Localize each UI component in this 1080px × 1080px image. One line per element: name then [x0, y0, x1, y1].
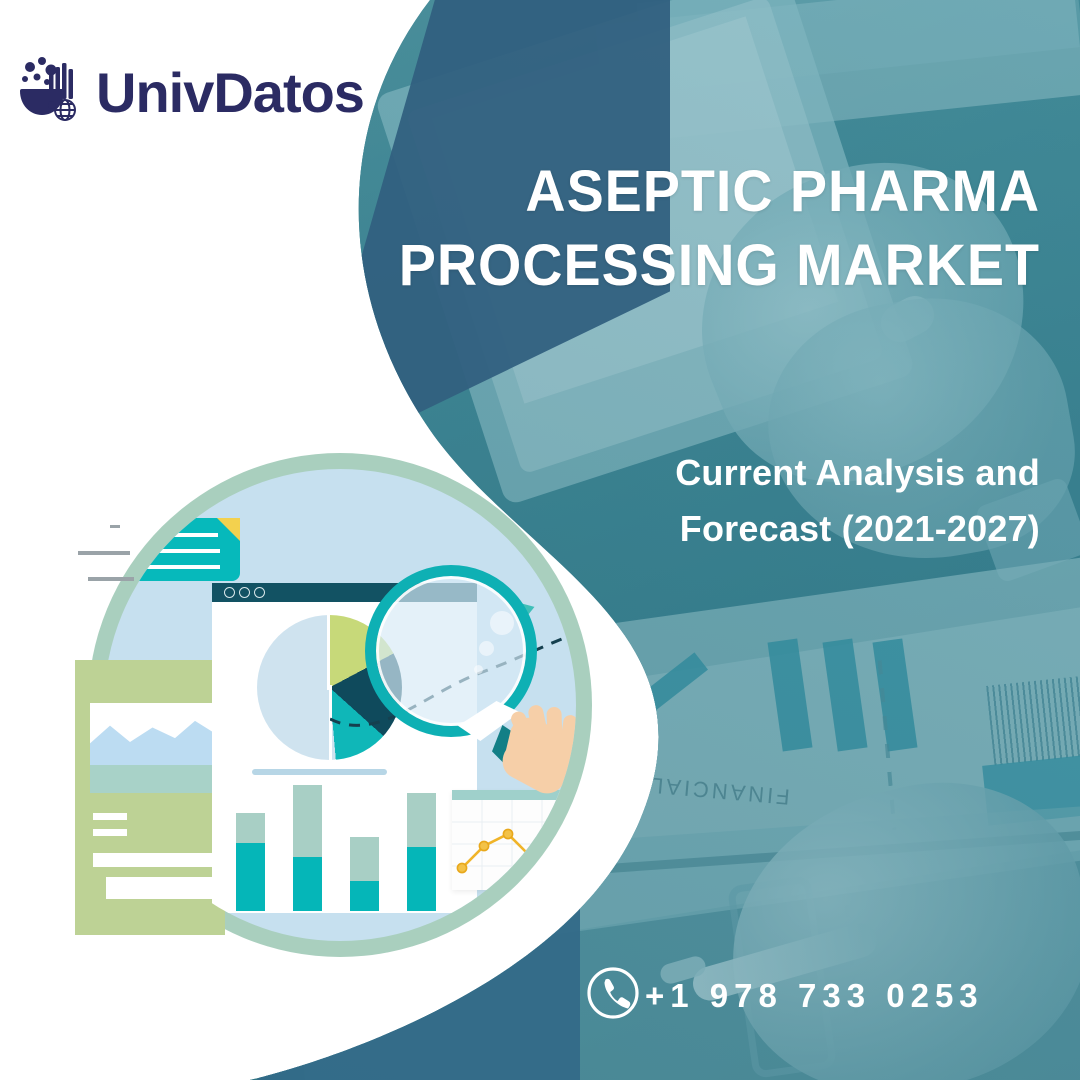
title-line-2: PROCESSING MARKET — [330, 229, 1040, 303]
bar-segment-upper — [293, 785, 322, 857]
mini-line-chart — [452, 800, 570, 890]
phone-number: +1 978 733 0253 — [645, 977, 984, 1015]
brand-name: UnivDatos — [96, 65, 364, 121]
contact-phone[interactable]: +1 978 733 0253 — [585, 965, 984, 1026]
bar-segment-lower — [293, 857, 322, 911]
bar-segment-upper — [236, 813, 265, 843]
brand-logo[interactable]: UnivDatos — [20, 55, 364, 130]
bar-chart — [236, 783, 476, 911]
bar-segment-lower — [236, 843, 265, 911]
browser-dot-1 — [224, 587, 235, 598]
illustration-inner-clip — [104, 469, 576, 941]
subtitle-line-2: Forecast (2021-2027) — [560, 501, 1040, 557]
title-line-1: ASEPTIC PHARMA — [330, 155, 1040, 229]
bar-chart-column — [293, 785, 322, 911]
bar-segment-lower — [350, 881, 379, 911]
hand-icon — [485, 693, 576, 805]
data-analysis-illustration — [60, 425, 620, 985]
card-text-line-1 — [150, 533, 218, 537]
bar-segment-upper — [407, 793, 436, 847]
card-text-line-2 — [144, 549, 220, 553]
subtitle-line-1: Current Analysis and — [560, 445, 1040, 501]
bar-segment-upper — [350, 837, 379, 881]
card-text-line-3 — [144, 565, 220, 569]
bar-chart-column — [407, 793, 436, 911]
page-subtitle: Current Analysis and Forecast (2021-2027… — [560, 445, 1040, 557]
poster-canvas: FINANCIAL — [0, 0, 1080, 1080]
browser-dot-3 — [254, 587, 265, 598]
browser-dot-2 — [239, 587, 250, 598]
bar-segment-lower — [407, 847, 436, 911]
page-title: ASEPTIC PHARMA PROCESSING MARKET — [300, 155, 1040, 303]
window-divider-line — [252, 769, 387, 775]
bar-chart-column — [236, 813, 265, 911]
globe-bar-chart-icon — [20, 55, 86, 130]
bar-chart-column — [350, 837, 379, 911]
